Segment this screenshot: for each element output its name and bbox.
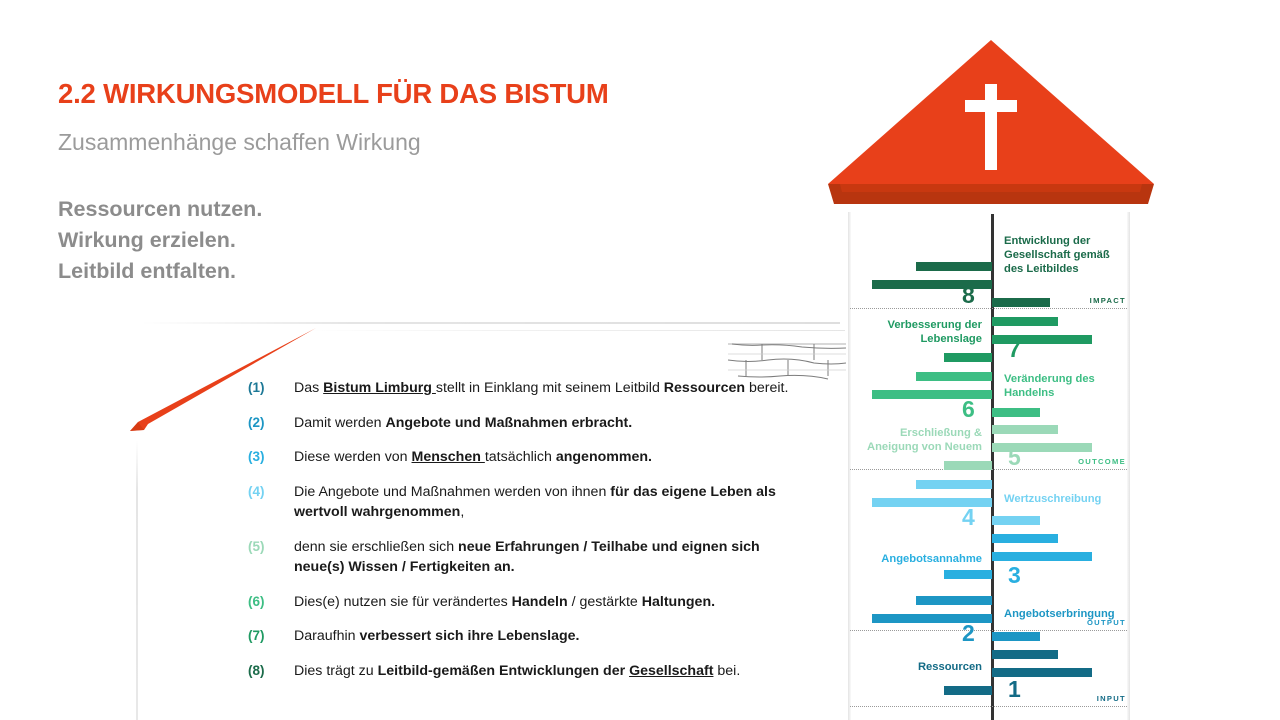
chart-bar (992, 335, 1092, 344)
group-label: Angebotsannahme (848, 552, 982, 566)
chart-bar (992, 534, 1058, 543)
list-item-number: (2) (248, 413, 294, 434)
claim-line: Wirkung erzielen. (58, 225, 262, 256)
list-item-text: Damit werden Angebote und Maßnahmen erbr… (294, 413, 808, 434)
list-item: (5)denn sie erschließen sich neue Erfahr… (248, 537, 808, 578)
chart-bar (992, 516, 1040, 525)
chart-bar (944, 570, 992, 579)
list-item-text: Dies trägt zu Leitbild-gemäßen Entwicklu… (294, 661, 808, 682)
chart-bar (992, 632, 1040, 641)
list-item: (6)Dies(e) nutzen sie für verändertes Ha… (248, 592, 808, 613)
chart-bar (916, 262, 992, 271)
group-label: Erschließung & Aneigung von Neuem (848, 426, 982, 454)
step-number: 5 (1008, 446, 1021, 469)
step-number: 1 (1008, 678, 1021, 701)
group-label: Ressourcen (848, 660, 982, 674)
list-item: (7)Daraufhin verbessert sich ihre Lebens… (248, 626, 808, 647)
group-label: Verbesserung der Lebenslage (848, 318, 982, 346)
step-number: 3 (1008, 564, 1021, 587)
step-number: 7 (1008, 338, 1021, 361)
group-label: Veränderung des Handelns (1004, 372, 1124, 400)
list-item: (8)Dies trägt zu Leitbild-gemäßen Entwic… (248, 661, 808, 682)
page-title: 2.2 WIRKUNGSMODELL FÜR DAS BISTUM (58, 78, 609, 110)
tier-label-input: INPUT (1097, 694, 1126, 703)
house-roof (826, 38, 1156, 214)
chart-bar (944, 353, 992, 362)
group-label: Entwicklung der Gesellschaft gemäß des L… (1004, 234, 1124, 277)
step-number: 8 (962, 284, 975, 307)
list-item: (2)Damit werden Angebote und Maßnahmen e… (248, 413, 808, 434)
chart-bar (992, 317, 1058, 326)
ceiling-line-inner (300, 330, 845, 331)
chart-bar (944, 686, 992, 695)
chart-bar (916, 596, 992, 605)
tier-divider (850, 706, 1127, 707)
list-item: (4)Die Angebote und Maßnahmen werden von… (248, 482, 808, 523)
ceiling-line (140, 322, 840, 324)
chart-bar (992, 552, 1092, 561)
step-number: 6 (962, 398, 975, 421)
chart-bar (992, 425, 1058, 434)
list-item-text: Dies(e) nutzen sie für verändertes Hande… (294, 592, 808, 613)
step-number: 4 (962, 506, 975, 529)
list-item-text: denn sie erschließen sich neue Erfahrung… (294, 537, 808, 578)
list-item: (3)Diese werden von Menschen tatsächlich… (248, 447, 808, 468)
list-item-number: (7) (248, 626, 294, 647)
diagram-wall-left (848, 212, 851, 720)
group-label: Angebotserbringung (1004, 607, 1124, 621)
chart-bar (992, 298, 1050, 307)
list-item-number: (8) (248, 661, 294, 682)
diagram-wall-right (1127, 212, 1130, 720)
chart-bar (916, 480, 992, 489)
list-item-text: Das Bistum Limburg stellt in Einklang mi… (294, 378, 808, 399)
list-item-text: Daraufhin verbessert sich ihre Lebenslag… (294, 626, 808, 647)
page-subtitle: Zusammenhänge schaffen Wirkung (58, 129, 421, 156)
list-item: (1)Das Bistum Limburg stellt in Einklang… (248, 378, 808, 399)
chart-bar (992, 650, 1058, 659)
chart-bar (944, 461, 992, 470)
tier-label-outcome: OUTCOME (1078, 457, 1126, 466)
list-item-number: (6) (248, 592, 294, 613)
wirkungstreppe-chart: IMPACTOUTCOMEOUTPUTINPUT8Entwicklung der… (848, 212, 1130, 720)
list-item-text: Diese werden von Menschen tatsächlich an… (294, 447, 808, 468)
claim-line: Ressourcen nutzen. (58, 194, 262, 225)
list-item-number: (4) (248, 482, 294, 523)
chart-bar (992, 408, 1040, 417)
claim-line: Leitbild entfalten. (58, 256, 262, 287)
chart-bar (916, 372, 992, 381)
chart-bar (992, 443, 1092, 452)
list-item-number: (1) (248, 378, 294, 399)
step-number: 2 (962, 622, 975, 645)
claim-block: Ressourcen nutzen.Wirkung erzielen.Leitb… (58, 194, 262, 287)
chart-bar (992, 668, 1092, 677)
list-item-text: Die Angebote und Maßnahmen werden von ih… (294, 482, 808, 523)
statement-list: (1)Das Bistum Limburg stellt in Einklang… (248, 378, 808, 695)
tier-label-impact: IMPACT (1090, 296, 1126, 305)
tier-divider (850, 630, 1127, 631)
list-item-number: (3) (248, 447, 294, 468)
group-label: Wertzuschreibung (1004, 492, 1124, 506)
tier-divider (850, 308, 1127, 309)
house-wall-left (136, 440, 138, 720)
list-item-number: (5) (248, 537, 294, 578)
roof-eave-band (840, 184, 1142, 192)
